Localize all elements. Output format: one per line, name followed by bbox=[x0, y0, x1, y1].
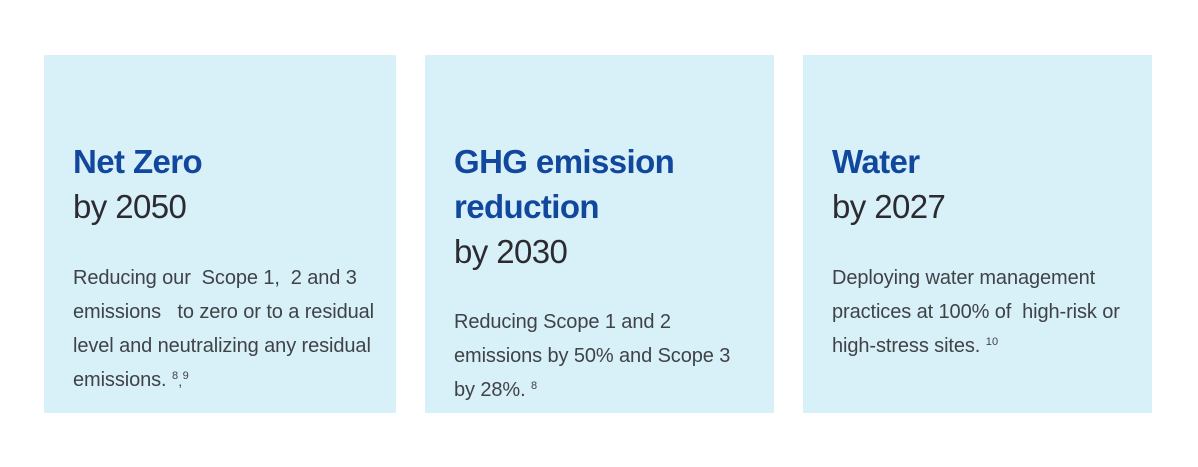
goal-card-description-text: Deploying water management practices at … bbox=[832, 267, 1125, 357]
goal-card-heading: GHG emission reduction by 2030 bbox=[454, 139, 756, 274]
goal-card-heading-target: by 2027 bbox=[832, 184, 1134, 229]
goal-card-description-text: Reducing Scope 1 and 2 emissions by 50% … bbox=[454, 311, 736, 401]
goal-card-water: Water by 2027 Deploying water management… bbox=[803, 55, 1152, 413]
goal-card-heading-target: by 2030 bbox=[454, 229, 756, 274]
goal-card-description: Reducing Scope 1 and 2 emissions by 50% … bbox=[454, 305, 756, 407]
goal-card-content: GHG emission reduction by 2030 Reducing … bbox=[454, 139, 756, 407]
footnote-marker-8: 8 bbox=[531, 380, 537, 392]
goal-card-heading: Water by 2027 bbox=[832, 139, 1134, 229]
goal-card-content: Net Zero by 2050 Reducing our Scope 1, 2… bbox=[73, 139, 378, 398]
goal-card-heading-accent: Water bbox=[832, 139, 1134, 184]
goal-card-heading-target: by 2050 bbox=[73, 184, 378, 229]
goals-card-board: Net Zero by 2050 Reducing our Scope 1, 2… bbox=[0, 0, 1198, 467]
footnote-marker-10: 10 bbox=[986, 336, 999, 348]
goal-card-description: Reducing our Scope 1, 2 and 3 emissions … bbox=[73, 261, 378, 398]
goal-card-ghg-emission-reduction: GHG emission reduction by 2030 Reducing … bbox=[425, 55, 774, 413]
goal-card-net-zero: Net Zero by 2050 Reducing our Scope 1, 2… bbox=[44, 55, 396, 413]
goal-card-description-text: Reducing our Scope 1, 2 and 3 emissions … bbox=[73, 267, 379, 391]
goal-card-heading-accent-line-1: GHG emission bbox=[454, 139, 756, 184]
goal-card-heading: Net Zero by 2050 bbox=[73, 139, 378, 229]
footnote-marker-9: 9 bbox=[183, 370, 189, 382]
goal-card-content: Water by 2027 Deploying water management… bbox=[832, 139, 1134, 363]
goal-card-heading-accent: Net Zero bbox=[73, 139, 378, 184]
goal-card-heading-accent-line-2: reduction bbox=[454, 184, 756, 229]
goal-card-description: Deploying water management practices at … bbox=[832, 261, 1134, 363]
